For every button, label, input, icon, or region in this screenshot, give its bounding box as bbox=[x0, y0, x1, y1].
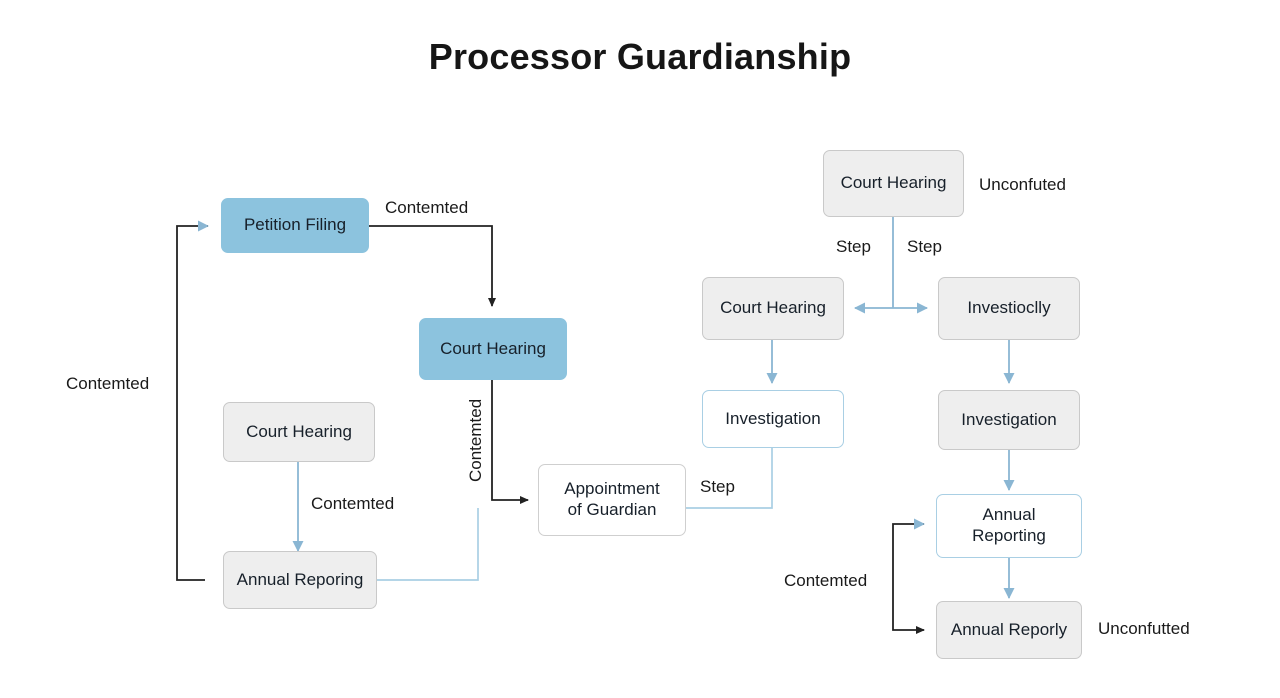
edge-label-step-investigation: Step bbox=[700, 477, 735, 497]
edge-label-petition-to-hearing: Contemted bbox=[385, 198, 468, 218]
node-label: Annual Reporly bbox=[951, 620, 1067, 640]
node-label-line2: of Guardian bbox=[568, 500, 657, 521]
node-label: Investigation bbox=[961, 410, 1056, 430]
node-label: Court Hearing bbox=[720, 298, 826, 318]
node-label-line1: Appointment bbox=[564, 479, 659, 500]
edge-label-contemted-right: Contemted bbox=[784, 571, 867, 591]
side-label-unconfuted: Unconfuted bbox=[979, 175, 1066, 195]
node-annual-reporly[interactable]: Annual Reporly bbox=[936, 601, 1082, 659]
edge-label-step-left: Step bbox=[836, 237, 871, 257]
node-court-hearing-mid-left[interactable]: Court Hearing bbox=[702, 277, 844, 340]
edge-label-hearing-to-appointment: Contemted bbox=[466, 399, 486, 482]
node-label-line1: Annual bbox=[983, 505, 1036, 526]
node-appointment-of-guardian[interactable]: Appointment of Guardian bbox=[538, 464, 686, 536]
diagram-canvas: Processor Guardianship bbox=[0, 0, 1280, 698]
node-court-hearing-top-right[interactable]: Court Hearing bbox=[823, 150, 964, 217]
edge-contemted-loop-to-annual-reporly bbox=[893, 560, 924, 630]
node-label: Court Hearing bbox=[440, 339, 546, 359]
edge-annual-to-appointment-feed bbox=[377, 508, 478, 580]
node-label: Petition Filing bbox=[244, 215, 346, 235]
side-label-unconfutted: Unconfutted bbox=[1098, 619, 1190, 639]
edge-label-hearing-gray-to-annual: Contemted bbox=[311, 494, 394, 514]
edge-label-step-right: Step bbox=[907, 237, 942, 257]
node-label: Court Hearing bbox=[246, 422, 352, 442]
node-court-hearing-blue[interactable]: Court Hearing bbox=[419, 318, 567, 380]
node-label-line2: Reporting bbox=[972, 526, 1046, 547]
node-investigation-right[interactable]: Investigation bbox=[938, 390, 1080, 450]
connector-layer bbox=[0, 0, 1280, 698]
node-label: Investigation bbox=[725, 409, 820, 429]
node-label: Court Hearing bbox=[841, 173, 947, 193]
node-investioclly[interactable]: Investioclly bbox=[938, 277, 1080, 340]
edge-petition-to-court-hearing bbox=[369, 226, 492, 306]
node-petition-filing[interactable]: Petition Filing bbox=[221, 198, 369, 253]
node-annual-reporting[interactable]: Annual Reporting bbox=[936, 494, 1082, 558]
edge-label-loop-back-left: Contemted bbox=[66, 374, 149, 394]
node-label: Investioclly bbox=[967, 298, 1050, 318]
edge-court-hearing-to-appointment bbox=[492, 380, 528, 500]
edge-loop-back-to-petition bbox=[177, 226, 208, 580]
node-label: Annual Reporing bbox=[237, 570, 364, 590]
page-title: Processor Guardianship bbox=[0, 36, 1280, 78]
node-investigation-left[interactable]: Investigation bbox=[702, 390, 844, 448]
edge-contemted-loop-to-annual-reporting bbox=[893, 524, 924, 560]
node-annual-reporing[interactable]: Annual Reporing bbox=[223, 551, 377, 609]
node-court-hearing-gray-left[interactable]: Court Hearing bbox=[223, 402, 375, 462]
